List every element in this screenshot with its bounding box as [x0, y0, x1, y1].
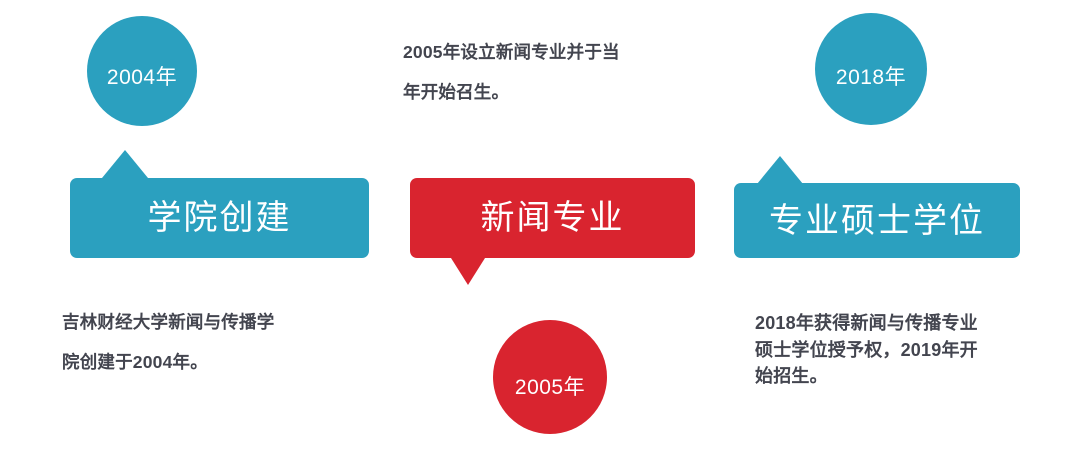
pointer-down-icon-journalism-major: [451, 258, 485, 285]
milestone-banner-journalism-major[interactable]: 新闻专业: [410, 178, 695, 258]
milestone-banner-label: 学院创建: [148, 201, 292, 235]
milestone-banner-label: 专业硕士学位: [769, 204, 985, 238]
timeline-diagram: 2004年 学院创建 吉林财经大学新闻与传播学 院创建于2004年。 2005年…: [0, 0, 1069, 463]
milestone-description-college-founding: 吉林财经大学新闻与传播学 院创建于2004年。: [62, 302, 382, 382]
milestone-banner-professional-masters-degree[interactable]: 专业硕士学位: [734, 183, 1020, 258]
milestone-description-journalism-major: 2005年设立新闻专业并于当 年开始召生。: [403, 32, 723, 112]
milestone-banner-label: 新闻专业: [481, 201, 625, 235]
year-badge-label: 2005年: [515, 377, 585, 398]
year-badge-2005[interactable]: 2005年: [493, 320, 607, 434]
pointer-up-icon-college-founding: [102, 150, 148, 178]
year-badge-label: 2018年: [836, 67, 906, 88]
pointer-up-icon-professional-masters-degree: [757, 156, 803, 184]
year-badge-2018[interactable]: 2018年: [815, 13, 927, 125]
year-badge-2004[interactable]: 2004年: [87, 16, 197, 126]
milestone-banner-college-founding[interactable]: 学院创建: [70, 178, 369, 258]
milestone-description-professional-masters-degree: 2018年获得新闻与传播专业 硕士学位授予权，2019年开 始招生。: [755, 310, 1055, 390]
year-badge-label: 2004年: [107, 67, 177, 88]
